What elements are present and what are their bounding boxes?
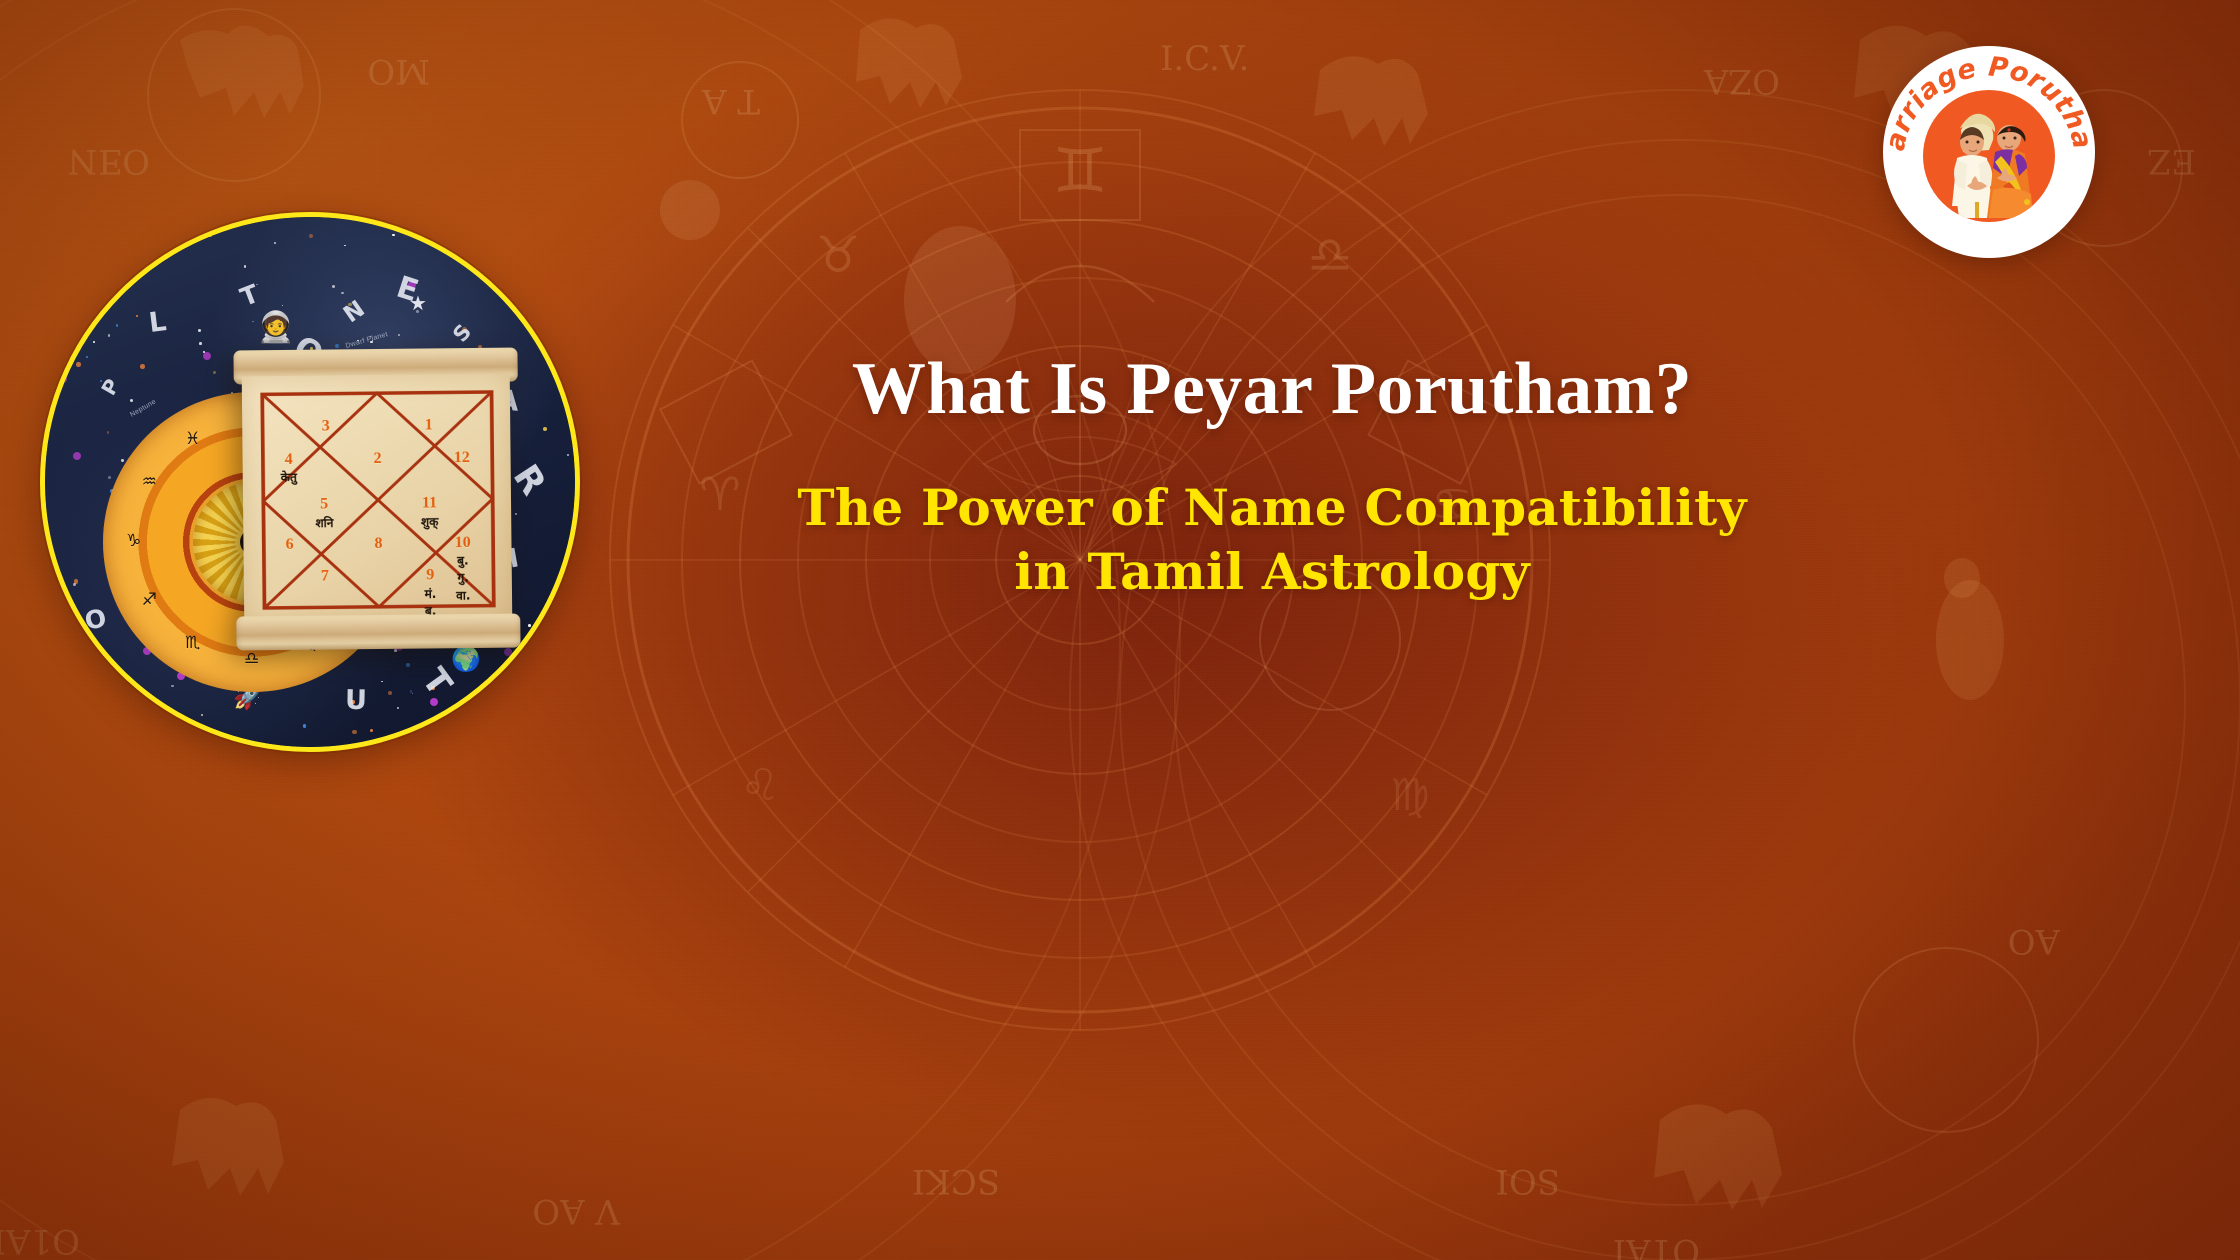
star-dot bbox=[73, 452, 81, 460]
zodiac-sign-10: ♒ bbox=[142, 474, 157, 491]
star-dot bbox=[381, 681, 383, 683]
star-dot bbox=[534, 228, 538, 232]
star-dot bbox=[565, 561, 573, 569]
page-subtitle: The Power of Name Compatibility in Tamil… bbox=[612, 476, 1932, 604]
star-dot bbox=[213, 371, 216, 374]
astronaut-icon: 🧑‍🚀 bbox=[257, 313, 294, 343]
star-dot bbox=[303, 724, 306, 727]
star-dot bbox=[515, 513, 517, 515]
star-icon: ★ bbox=[171, 713, 187, 731]
planet-label: Neptune bbox=[129, 398, 157, 418]
star-dot bbox=[93, 341, 95, 343]
banner-canvas: ♊ ♉ ♎ ♈ ♋ ♌ ♍ bbox=[0, 0, 2240, 1260]
star-dot bbox=[144, 731, 146, 733]
logo-inner-circle bbox=[1923, 90, 2055, 222]
star-dot bbox=[398, 334, 400, 336]
star-dot bbox=[274, 242, 276, 244]
space-letter-glyph: L bbox=[147, 308, 167, 337]
star-dot bbox=[147, 699, 150, 702]
star-dot bbox=[335, 344, 339, 348]
star-dot bbox=[130, 399, 133, 402]
kundli-house-number-8: 8 bbox=[374, 535, 382, 553]
star-dot bbox=[392, 234, 394, 236]
scroll-sheet: 1234केतु5शनि6789मं.बू.10बु.गु.वा.11शुक्1… bbox=[242, 374, 513, 625]
zodiac-sign-8: ♐ bbox=[142, 592, 157, 609]
star-dot bbox=[86, 356, 88, 358]
star-dot bbox=[388, 691, 392, 695]
space-letter-glyph: N bbox=[340, 298, 369, 328]
star-dot bbox=[341, 292, 343, 294]
kundli-house-number-12: 12 bbox=[454, 449, 470, 467]
star-dot bbox=[256, 284, 258, 286]
zodiac-sign-7: ♏ bbox=[185, 635, 200, 652]
kundli-planet-label: केतु bbox=[281, 468, 297, 485]
planet-label: Dwarf Planet bbox=[345, 331, 389, 350]
kundli-planet-label: वा. bbox=[456, 586, 471, 603]
kundli-house-number-7: 7 bbox=[321, 568, 329, 586]
star-dot bbox=[152, 234, 154, 236]
kundli-house-number-1: 1 bbox=[425, 416, 433, 434]
star-dot bbox=[74, 241, 75, 242]
star-dot bbox=[244, 265, 246, 267]
kundli-planet-label: बु. bbox=[457, 552, 469, 569]
kundli-house-number-6: 6 bbox=[285, 535, 293, 553]
space-letter-glyph: T bbox=[237, 281, 262, 310]
star-dot bbox=[121, 459, 123, 461]
star-dot bbox=[110, 252, 112, 254]
star-dot bbox=[514, 689, 517, 692]
page-subtitle-line-2: in Tamil Astrology bbox=[1014, 542, 1530, 601]
banner-text-block: What Is Peyar Porutham? The Power of Nam… bbox=[612, 350, 1932, 604]
star-dot bbox=[552, 364, 560, 372]
marriage-porutham-logo[interactable]: Marriage Porutham bbox=[1883, 46, 2095, 258]
page-subtitle-line-1: The Power of Name Compatibility bbox=[797, 478, 1746, 537]
star-icon: ★ bbox=[409, 293, 427, 313]
star-dot bbox=[252, 321, 254, 323]
star-dot bbox=[510, 276, 518, 284]
star-dot bbox=[199, 342, 202, 345]
star-dot bbox=[537, 223, 539, 225]
star-dot bbox=[198, 329, 201, 332]
star-dot bbox=[203, 352, 211, 360]
star-dot bbox=[127, 283, 130, 286]
star-dot bbox=[108, 334, 110, 336]
zodiac-sign-9: ♑ bbox=[126, 533, 141, 550]
kundli-planet-label: शनि bbox=[315, 514, 333, 531]
star-dot bbox=[394, 649, 397, 652]
star-dot bbox=[309, 234, 313, 238]
star-dot bbox=[46, 282, 49, 285]
star-dot bbox=[140, 364, 145, 369]
space-letter-glyph: S bbox=[450, 321, 476, 346]
star-dot bbox=[397, 707, 399, 709]
star-dot bbox=[344, 245, 345, 246]
star-dot bbox=[488, 678, 489, 679]
page-title: What Is Peyar Porutham? bbox=[612, 350, 1932, 428]
kundli-house-number-3: 3 bbox=[322, 417, 330, 435]
star-dot bbox=[412, 693, 413, 694]
kundli-planet-label: शुक् bbox=[421, 513, 439, 530]
star-dot bbox=[504, 648, 512, 656]
star-dot bbox=[532, 323, 540, 331]
kundli-house-number-5: 5 bbox=[320, 496, 328, 514]
star-dot bbox=[543, 427, 547, 431]
star-dot bbox=[484, 240, 492, 248]
space-letter-glyph: P bbox=[98, 376, 123, 399]
earth-icon: 🌍 bbox=[451, 647, 481, 671]
star-dot bbox=[424, 723, 426, 725]
zodiac-sign-11: ♓ bbox=[185, 431, 200, 448]
star-dot bbox=[108, 476, 111, 479]
star-dot bbox=[76, 362, 81, 367]
star-dot bbox=[59, 375, 67, 383]
star-dot bbox=[561, 298, 564, 301]
star-dot bbox=[352, 730, 357, 735]
star-dot bbox=[73, 583, 76, 586]
zodiac-sign-6: ♎ bbox=[244, 651, 259, 668]
kundli-house-number-2: 2 bbox=[373, 450, 381, 468]
star-dot bbox=[136, 315, 138, 317]
star-dot bbox=[528, 624, 531, 627]
star-dot bbox=[282, 305, 283, 306]
star-dot bbox=[332, 285, 335, 288]
star-dot bbox=[567, 744, 569, 746]
kundli-house-number-9: 9 bbox=[426, 567, 434, 585]
star-dot bbox=[56, 701, 64, 709]
scroll-roll-bottom bbox=[236, 614, 520, 651]
kundli-chart: 1234केतु5शनि6789मं.बू.10बु.गु.वा.11शुक्1… bbox=[260, 390, 496, 610]
star-dot bbox=[567, 454, 569, 456]
space-letter-glyph: R bbox=[506, 460, 550, 502]
star-dot bbox=[208, 232, 213, 237]
kundli-house-number-11: 11 bbox=[422, 495, 437, 513]
star-dot bbox=[406, 663, 410, 667]
star-dot bbox=[171, 685, 174, 688]
kundli-house-number-10: 10 bbox=[455, 534, 471, 552]
star-dot bbox=[76, 346, 81, 351]
kundli-planet-label: मं. bbox=[424, 585, 436, 602]
star-dot bbox=[116, 324, 119, 327]
star-dot bbox=[370, 729, 373, 732]
star-dot bbox=[572, 441, 574, 443]
kundli-planet-label: गु. bbox=[457, 569, 469, 586]
space-letter-glyph: U bbox=[345, 687, 367, 714]
kundli-house-number-4: 4 bbox=[285, 450, 293, 468]
space-letter-glyph: O bbox=[82, 605, 108, 634]
star-dot bbox=[191, 223, 195, 227]
bride-and-groom-illustration bbox=[1923, 90, 2055, 222]
star-dot bbox=[63, 309, 66, 312]
star-dot bbox=[201, 714, 203, 716]
star-dot bbox=[521, 237, 525, 241]
star-dot bbox=[501, 702, 505, 706]
parchment-scroll: 1234केतु5शनि6789मं.बू.10बु.गु.वा.11शुक्1… bbox=[239, 348, 514, 651]
star-dot bbox=[107, 431, 109, 433]
astrology-kundli-circle: PLUTONESARHVMCDPLUTONeptuneVenusDwarf Pl… bbox=[40, 212, 580, 752]
